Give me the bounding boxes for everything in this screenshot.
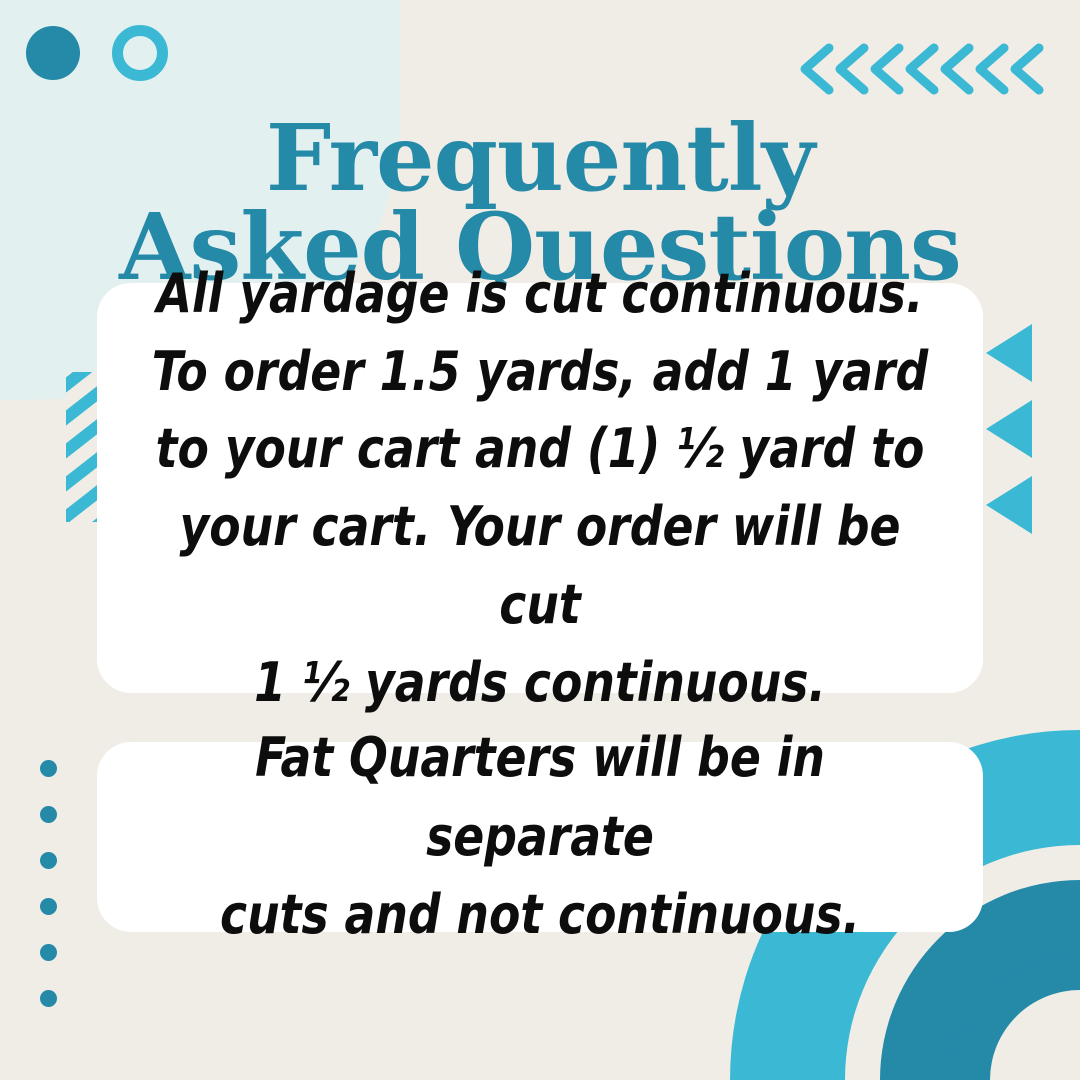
faq-card-1-text: All yardage is cut continuous. To order … bbox=[148, 255, 932, 722]
chevron-left-icon bbox=[840, 48, 864, 90]
triangle-left-icon bbox=[986, 324, 1032, 382]
chevron-left-icon bbox=[1015, 48, 1039, 90]
dot-icon bbox=[40, 852, 57, 869]
faq-card-2: Fat Quarters will be in separate cuts an… bbox=[97, 742, 983, 932]
chevron-left-icon bbox=[805, 48, 829, 90]
filled-circle-icon bbox=[26, 26, 80, 80]
ring-circle-icon bbox=[112, 25, 168, 81]
dot-icon bbox=[40, 806, 57, 823]
chevron-left-icon bbox=[875, 48, 899, 90]
chevron-left-icon-group bbox=[795, 38, 1045, 100]
triangle-left-icon bbox=[986, 476, 1032, 534]
chevron-left-icon bbox=[980, 48, 1004, 90]
faq-card-2-text: Fat Quarters will be in separate cuts an… bbox=[148, 719, 932, 955]
chevron-left-icon bbox=[910, 48, 934, 90]
dot-column bbox=[40, 760, 58, 1007]
dot-icon bbox=[40, 990, 57, 1007]
dot-icon bbox=[40, 760, 57, 777]
triangle-left-icon-group bbox=[980, 320, 1050, 550]
faq-graphic-canvas: Frequently Asked Questions All yardage i… bbox=[0, 0, 1080, 1080]
triangle-left-icon bbox=[986, 400, 1032, 458]
dot-icon bbox=[40, 898, 57, 915]
chevron-left-icon bbox=[945, 48, 969, 90]
dot-icon bbox=[40, 944, 57, 961]
faq-card-1: All yardage is cut continuous. To order … bbox=[97, 283, 983, 693]
